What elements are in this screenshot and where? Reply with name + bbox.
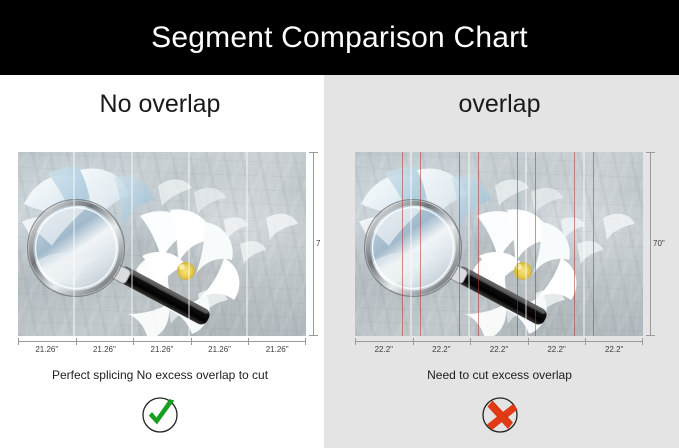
panel-heading-no-overlap: No overlap — [0, 92, 320, 117]
panel-overlap: overlap — [320, 75, 679, 448]
caption-no-overlap: Perfect splicing No excess overlap to cu… — [0, 368, 320, 382]
mural-artwork-icon — [18, 152, 306, 336]
mural-no-overlap — [18, 152, 306, 336]
width-dimension-overlap: 22.2" 22.2" 22.2" 22.2" 22.2" — [355, 338, 643, 358]
segment-width-label: 21.26" — [133, 345, 191, 355]
green-check-icon — [140, 395, 180, 435]
mural-artwork-icon — [355, 152, 643, 336]
height-dimension-overlap: 70" — [645, 152, 671, 336]
mural-image-no-overlap — [18, 152, 306, 336]
segment-width-label: 21.26" — [76, 345, 134, 355]
segment-comparison-page: Segment Comparison Chart No overlap — [0, 0, 679, 448]
caption-overlap: Need to cut excess overlap — [320, 368, 679, 382]
verdict-overlap — [320, 395, 679, 435]
segment-width-label: 22.2" — [470, 345, 528, 355]
height-label-overlap: 70" — [653, 240, 665, 248]
segment-width-label: 22.2" — [413, 345, 471, 355]
page-header: Segment Comparison Chart — [0, 0, 679, 75]
segment-width-label: 21.26" — [18, 345, 76, 355]
mural-overlap — [355, 152, 643, 336]
red-cross-icon — [480, 395, 520, 435]
panel-heading-overlap: overlap — [320, 92, 679, 117]
segment-width-label: 22.2" — [585, 345, 643, 355]
mural-image-overlap — [355, 152, 643, 336]
segment-width-label: 22.2" — [528, 345, 586, 355]
comparison-panels: No overlap — [0, 75, 679, 448]
panel-no-overlap: No overlap — [0, 75, 320, 448]
verdict-no-overlap — [0, 395, 320, 435]
page-title: Segment Comparison Chart — [151, 23, 528, 53]
segment-width-label: 21.26" — [248, 345, 306, 355]
segment-width-label: 22.2" — [355, 345, 413, 355]
width-dimension-no-overlap: 21.26" 21.26" 21.26" 21.26" 21.26" — [18, 338, 306, 358]
segment-width-label: 21.26" — [191, 345, 249, 355]
